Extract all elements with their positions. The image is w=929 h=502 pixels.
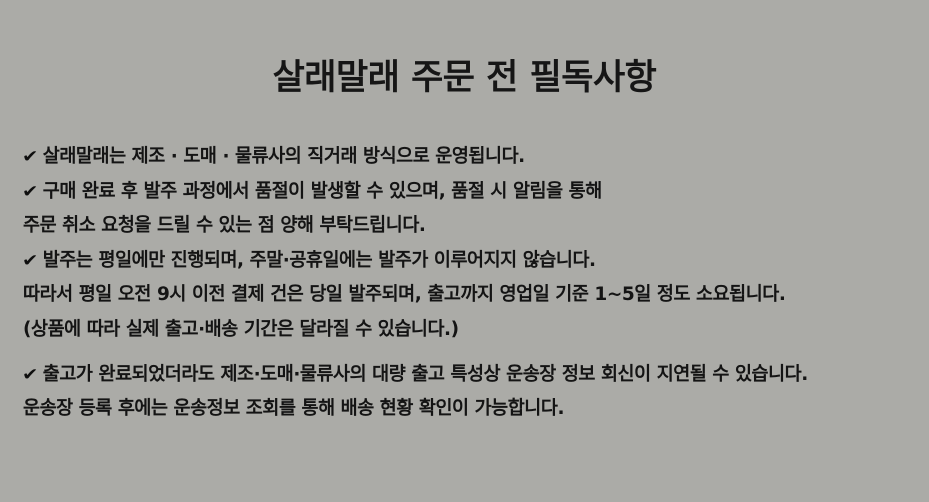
notice-line: 따라서 평일 오전 9시 이전 결제 건은 당일 발주되며, 출고까지 영업일 … (23, 278, 913, 313)
check-icon: ✔ (22, 175, 38, 210)
notice-line: 주문 취소 요청을 드릴 수 있는 점 양해 부탁드립니다. (23, 209, 913, 244)
body-text: 따라서 (23, 284, 79, 305)
notice-line: 운송장 등록 후에는 운송정보 조회를 통해 배송 현황 확인이 가능합니다. (23, 392, 913, 427)
check-icon: ✔ (22, 140, 38, 175)
notice-line: ✔출고가 완료되었더라도 제조·도매·물류사의 대량 출고 특성상 운송장 정보… (23, 358, 913, 393)
body-text: (상품에 따라 실제 출고·배송 기간은 달라질 수 있습니다.) (23, 319, 459, 340)
check-icon: ✔ (22, 358, 38, 393)
body-text: 되며, 주말·공휴일에는 발주가 이루어지지 않습니다. (204, 250, 596, 271)
highlighted-text: 발주 과정에서 품절 (144, 181, 289, 202)
highlighted-text: 제조 · 도매 · 물류사의 직거래 방식 (132, 146, 397, 167)
body-text: 구매 완료 후 (43, 181, 144, 202)
notice-line: ✔구매 완료 후 발주 과정에서 품절이 발생할 수 있으며, 품절 시 알림을… (23, 175, 913, 210)
body-text: 이 발생할 수 있으며, 품절 시 알림을 통해 (288, 181, 602, 202)
body-text: 주문 취소 요청을 드릴 수 있는 점 양해 부탁드립니다. (23, 215, 425, 236)
notice-line: ✔발주는 평일에만 진행되며, 주말·공휴일에는 발주가 이루어지지 않습니다. (23, 244, 913, 279)
body-text: 살래말래는 (43, 146, 132, 167)
order-notice-card: 살래말래 주문 전 필독사항 ✔살래말래는 제조 · 도매 · 물류사의 직거래… (0, 0, 929, 502)
body-text: 발주는 (43, 250, 99, 271)
check-icon: ✔ (22, 244, 38, 279)
body-text: 은 당일 발주되며, 출고까지 영업일 기준 1~5일 정도 소요됩니다. (287, 284, 786, 305)
highlighted-text: 평일 오전 9시 이전 결제 건 (79, 284, 287, 305)
notice-line: ✔살래말래는 제조 · 도매 · 물류사의 직거래 방식으로 운영됩니다. (23, 140, 913, 175)
body-text: 출고가 완료되었더라도 제조·도매·물류사의 대량 출고 특성상 (43, 364, 506, 385)
highlighted-text: 운송장 정보 회신이 지연 (506, 364, 690, 385)
notice-line-list: ✔살래말래는 제조 · 도매 · 물류사의 직거래 방식으로 운영됩니다.✔구매… (23, 140, 913, 427)
body-text: 운송장 등록 후에는 운송정보 조회를 통해 배송 현황 확인이 가능합니다. (23, 398, 564, 419)
page-title: 살래말래 주문 전 필독사항 (0, 59, 929, 98)
notice-line: (상품에 따라 실제 출고·배송 기간은 달라질 수 있습니다.) (23, 313, 913, 348)
body-text: 될 수 있습니다. (690, 364, 808, 385)
body-text: 으로 운영됩니다. (396, 146, 525, 167)
highlighted-text: 평일에만 진행 (99, 250, 204, 271)
